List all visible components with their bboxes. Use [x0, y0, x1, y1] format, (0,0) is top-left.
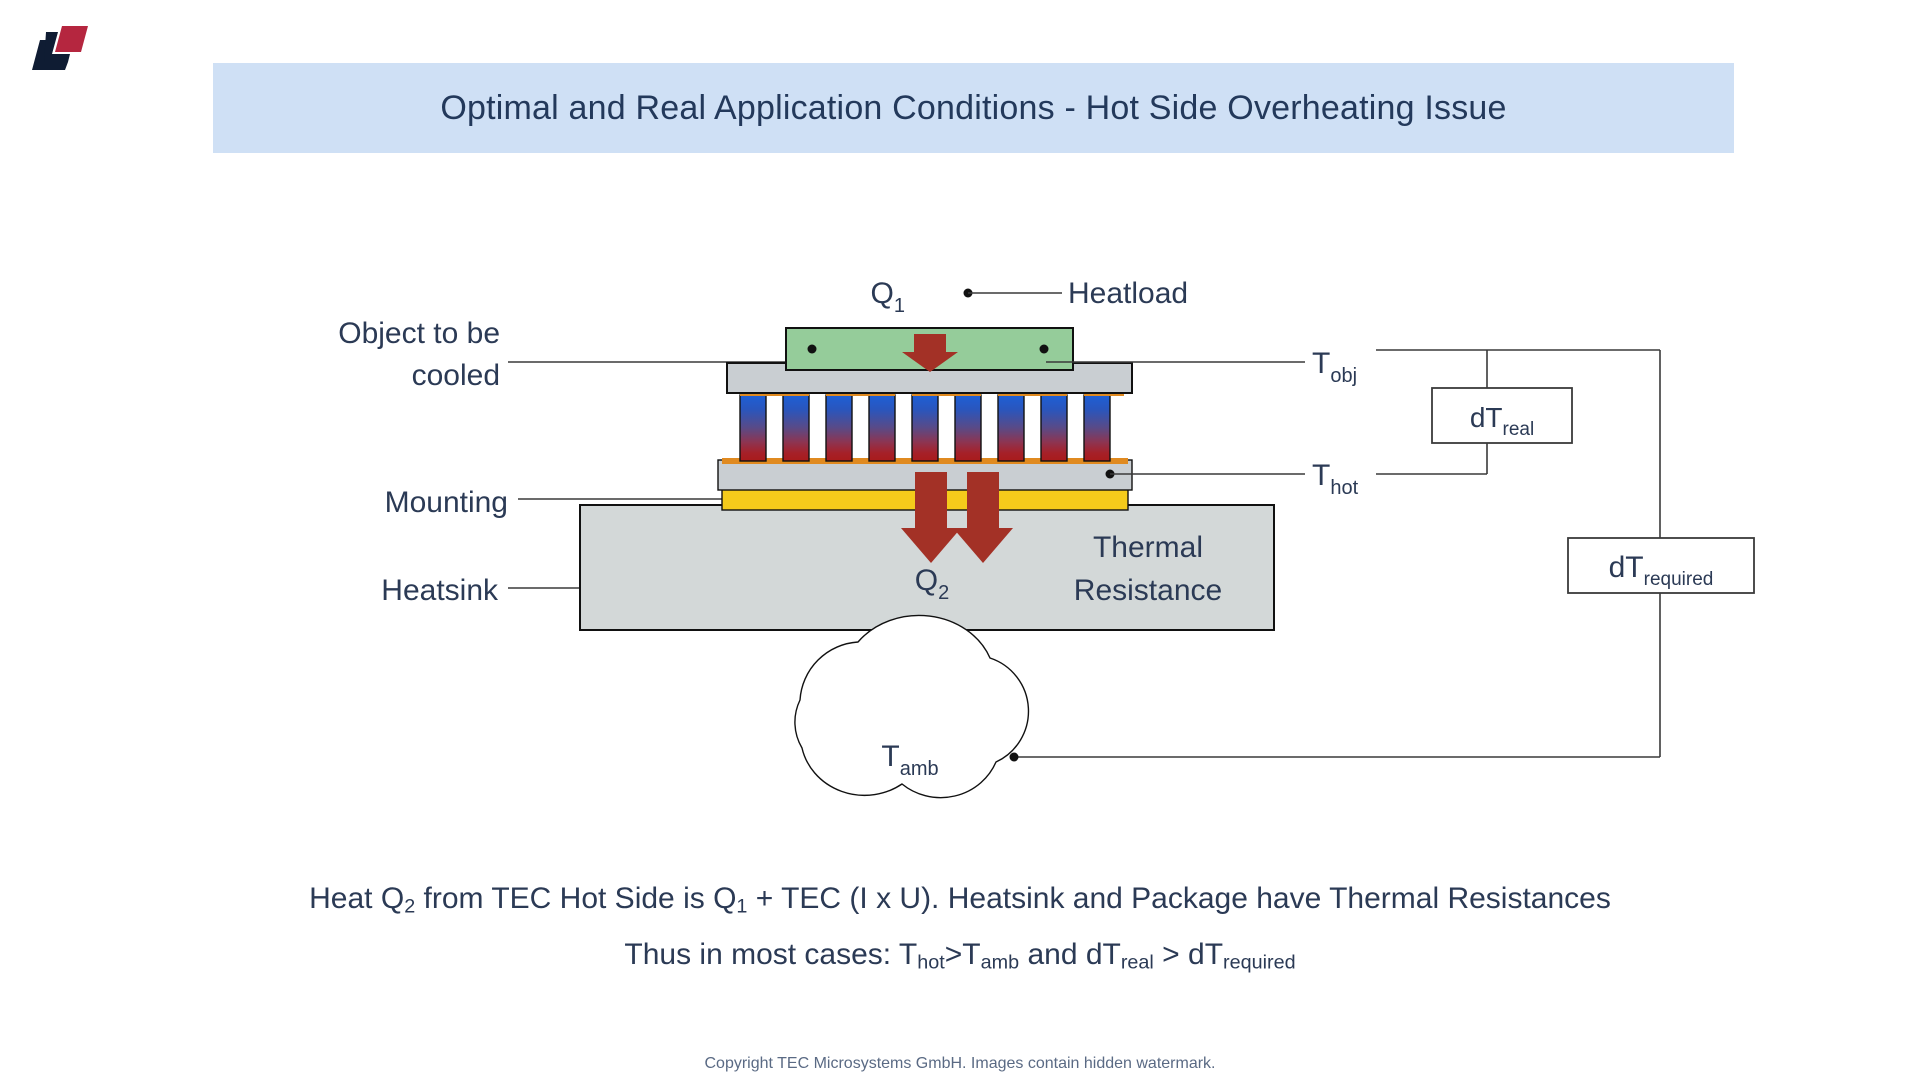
tec-pillar: [1084, 395, 1110, 461]
caption2-sub3: real: [1121, 951, 1154, 973]
caption2-sub1: hot: [917, 951, 945, 973]
tec-pillar: [826, 395, 852, 461]
object-label-line1: Object to be: [338, 317, 500, 350]
caption1-sub1: 2: [404, 895, 415, 917]
tamb-anchor-dot: [1010, 753, 1019, 762]
copyright-footer: Copyright TEC Microsystems GmbH. Images …: [0, 1055, 1920, 1073]
thermal-resistance-line2: Resistance: [1074, 574, 1222, 607]
tec-pillar: [1041, 395, 1067, 461]
tec-pillar: [912, 395, 938, 461]
tobj-label: Tobj: [1312, 347, 1357, 387]
thot-label: Thot: [1312, 459, 1359, 499]
caption-line-1: Heat Q2 from TEC Hot Side is Q1 + TEC (I…: [0, 882, 1920, 918]
heatsink-label: Heatsink: [381, 574, 499, 607]
heatload-label: Heatload: [1068, 277, 1188, 310]
tec-pillar: [869, 395, 895, 461]
caption2-sub4: required: [1223, 951, 1296, 973]
caption2-seg3: and dT: [1019, 938, 1121, 971]
thermal-resistance-line1: Thermal: [1093, 531, 1203, 564]
caption1-seg1: Heat Q: [309, 882, 404, 915]
object-label-line2: cooled: [412, 359, 500, 392]
caption2-seg1: Thus in most cases: T: [624, 938, 917, 971]
caption1-seg2: from TEC Hot Side is Q: [415, 882, 736, 915]
tec-pillar: [955, 395, 981, 461]
caption1-sub2: 1: [736, 895, 747, 917]
mounting-label: Mounting: [385, 486, 508, 519]
caption1-seg3: + TEC (I x U). Heatsink and Package have…: [747, 882, 1610, 915]
tec-pillar-array: [740, 395, 1110, 461]
caption2-sub2: amb: [981, 951, 1019, 973]
tec-pillar: [740, 395, 766, 461]
object-anchor-dot-left: [808, 345, 817, 354]
caption2-seg2: >T: [945, 938, 981, 971]
caption2-seg4: > dT: [1154, 938, 1223, 971]
object-anchor-dot-right: [1040, 345, 1049, 354]
tec-pillar: [783, 395, 809, 461]
q1-symbol: Q1: [871, 277, 905, 317]
caption-line-2: Thus in most cases: Thot>Tamb and dTreal…: [0, 938, 1920, 974]
tec-pillar: [998, 395, 1024, 461]
